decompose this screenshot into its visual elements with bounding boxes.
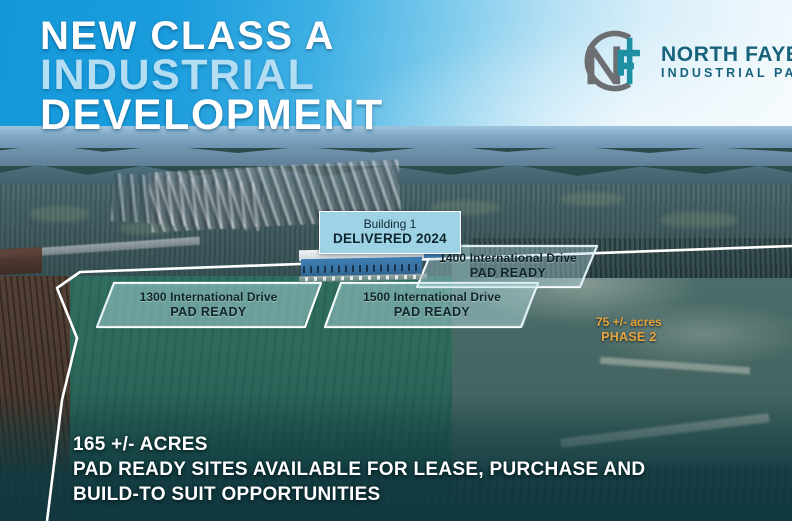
pad-1500-label: 1500 International Drive PAD READY bbox=[363, 290, 501, 320]
farm-field-patch bbox=[660, 212, 738, 228]
logo-lockup[interactable]: NORTH FAYETTE INDUSTRIAL PARK bbox=[566, 24, 792, 98]
footer-copy-block: 165 +/- ACRES PAD READY SITES AVAILABLE … bbox=[73, 432, 645, 507]
phase-2-label[interactable]: 75 +/- acres PHASE 2 bbox=[596, 315, 662, 346]
footer-line-1: 165 +/- ACRES bbox=[73, 432, 645, 457]
pad-1500-international-drive[interactable]: 1500 International Drive PAD READY bbox=[326, 283, 538, 327]
footer-line-2: PAD READY SITES AVAILABLE FOR LEASE, PUR… bbox=[73, 457, 645, 482]
farm-field-patch bbox=[30, 206, 90, 222]
logo-name-primary: NORTH FAYETTE bbox=[661, 44, 792, 65]
phase-2-acreage: 75 +/- acres bbox=[596, 315, 662, 330]
logo-wordmark: NORTH FAYETTE INDUSTRIAL PARK bbox=[661, 42, 792, 80]
footer-line-3: BUILD-TO SUIT OPPORTUNITIES bbox=[73, 482, 645, 507]
headline-line-3: DEVELOPMENT bbox=[40, 96, 384, 136]
farm-field-patch bbox=[560, 192, 624, 206]
pad-1300-international-drive[interactable]: 1300 International Drive PAD READY bbox=[96, 283, 321, 327]
building-1-title: Building 1 bbox=[333, 217, 447, 231]
pad-1400-label: 1400 International Drive PAD READY bbox=[439, 251, 577, 281]
nf-monogram-icon bbox=[566, 24, 652, 98]
building-1-status: DELIVERED 2024 bbox=[333, 231, 447, 247]
poster-canvas: 1400 International Drive PAD READY 1300 … bbox=[0, 0, 792, 521]
headline-line-1: NEW CLASS A bbox=[40, 18, 384, 55]
logo-name-secondary: INDUSTRIAL PARK bbox=[661, 67, 792, 80]
headline-block: NEW CLASS A INDUSTRIAL DEVELOPMENT bbox=[40, 18, 384, 136]
headline-line-2: INDUSTRIAL bbox=[40, 56, 384, 96]
phase-2-title: PHASE 2 bbox=[596, 330, 662, 346]
building-1-callout[interactable]: Building 1 DELIVERED 2024 bbox=[319, 211, 461, 254]
roadside-building bbox=[0, 247, 42, 275]
pad-1300-label: 1300 International Drive PAD READY bbox=[140, 290, 278, 320]
